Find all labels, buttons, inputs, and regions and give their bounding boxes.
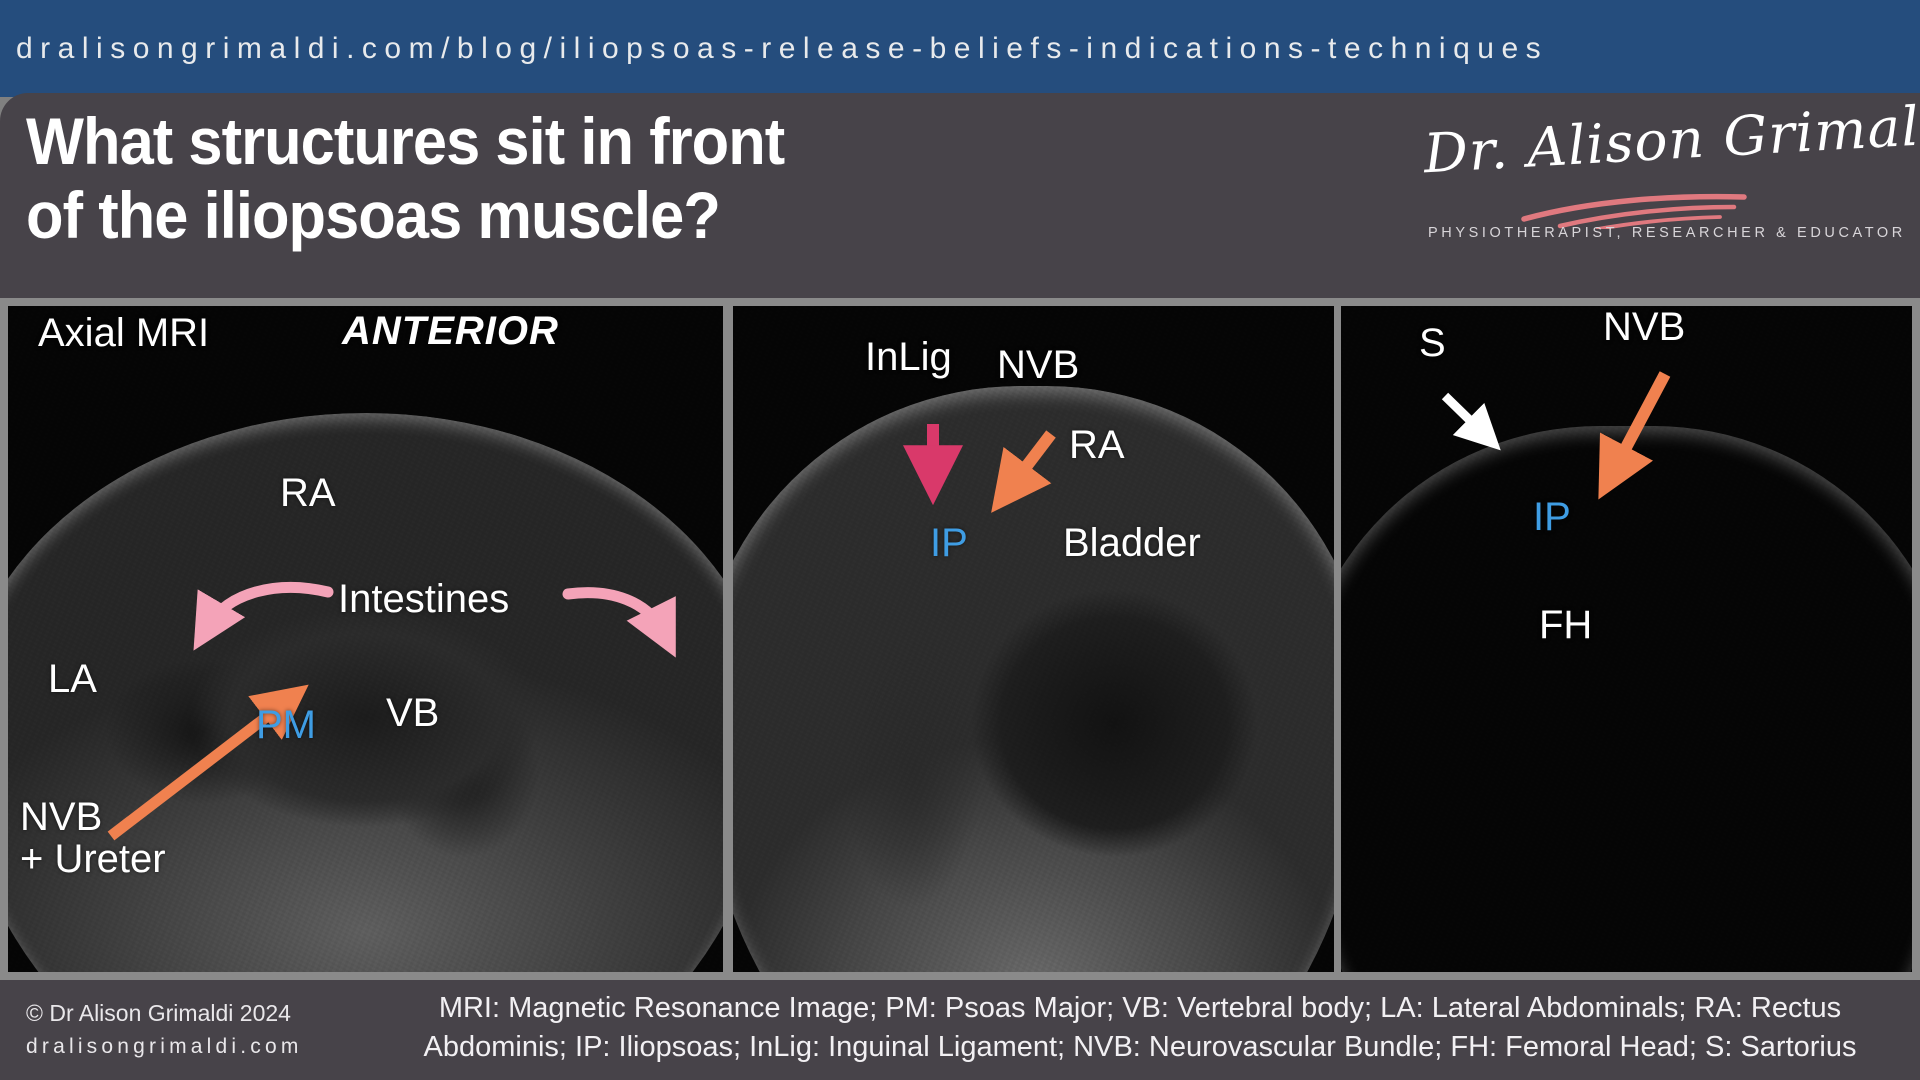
label-ra: RA: [1069, 424, 1125, 466]
panel-3-annotations: [1341, 306, 1912, 972]
panel-3[interactable]: S NVB IP FH: [1341, 306, 1912, 972]
url-text: dralisongrimaldi.com/blog/iliopsoas-rele…: [0, 32, 1548, 66]
logo-tagline: PHYSIOTHERAPIST, RESEARCHER & EDUCATOR: [1428, 225, 1898, 241]
copyright-text: © Dr Alison Grimaldi 2024: [26, 1000, 291, 1026]
panel-1-orientation: ANTERIOR: [342, 310, 559, 352]
slide-root: dralisongrimaldi.com/blog/iliopsoas-rele…: [0, 0, 1920, 1080]
legend-line-1: MRI: Magnetic Resonance Image; PM: Psoas…: [370, 989, 1910, 1028]
footer: © Dr Alison Grimaldi 2024 dralisongrimal…: [0, 980, 1920, 1080]
label-bladder: Bladder: [1063, 522, 1201, 564]
arrow-intestines-left: [208, 587, 328, 626]
label-fh: FH: [1539, 604, 1592, 646]
label-ip: IP: [930, 522, 968, 564]
label-pm: PM: [256, 704, 316, 746]
title-panel: What structures sit in front of the ilio…: [0, 93, 1920, 298]
url-bar: dralisongrimaldi.com/blog/iliopsoas-rele…: [0, 0, 1920, 97]
label-la: LA: [48, 658, 97, 700]
label-ra: RA: [280, 472, 336, 514]
arrow-nvb: [1613, 374, 1665, 472]
label-s: S: [1419, 322, 1446, 364]
panel-2[interactable]: InLig NVB RA IP Bladder: [733, 306, 1334, 972]
legend-line-2: Abdominis; IP: Iliopsoas; InLig: Inguina…: [370, 1028, 1910, 1067]
arrow-nvb: [1010, 434, 1051, 488]
logo-script-name: Dr. Alison Grimaldi: [1422, 96, 1904, 186]
arrow-sartorius: [1445, 396, 1484, 434]
label-inlig: InLig: [865, 336, 952, 378]
label-vb: VB: [386, 692, 439, 734]
arrow-intestines-right: [568, 593, 663, 632]
brand-logo: Dr. Alison Grimaldi PHYSIOTHERAPIST, RES…: [1428, 107, 1898, 257]
logo-swoosh-icon: [1520, 193, 1760, 229]
page-title: What structures sit in front of the ilio…: [26, 105, 784, 253]
label-intestines: Intestines: [338, 578, 509, 620]
abbreviation-legend: MRI: Magnetic Resonance Image; PM: Psoas…: [370, 989, 1910, 1067]
label-nvb-ureter: NVB + Ureter: [20, 796, 166, 880]
label-ip: IP: [1533, 496, 1571, 538]
label-nvb: NVB: [1603, 306, 1685, 348]
website-text: dralisongrimaldi.com: [26, 1031, 303, 1063]
copyright-block: © Dr Alison Grimaldi 2024 dralisongrimal…: [26, 996, 303, 1062]
mri-panel-strip: Axial MRI ANTERIOR RA Intestines LA PM V…: [0, 298, 1920, 980]
label-nvb: NVB: [997, 344, 1079, 386]
panel-2-annotations: [733, 306, 1334, 972]
panel-1-modality: Axial MRI: [38, 312, 209, 354]
panel-1[interactable]: Axial MRI ANTERIOR RA Intestines LA PM V…: [8, 306, 723, 972]
